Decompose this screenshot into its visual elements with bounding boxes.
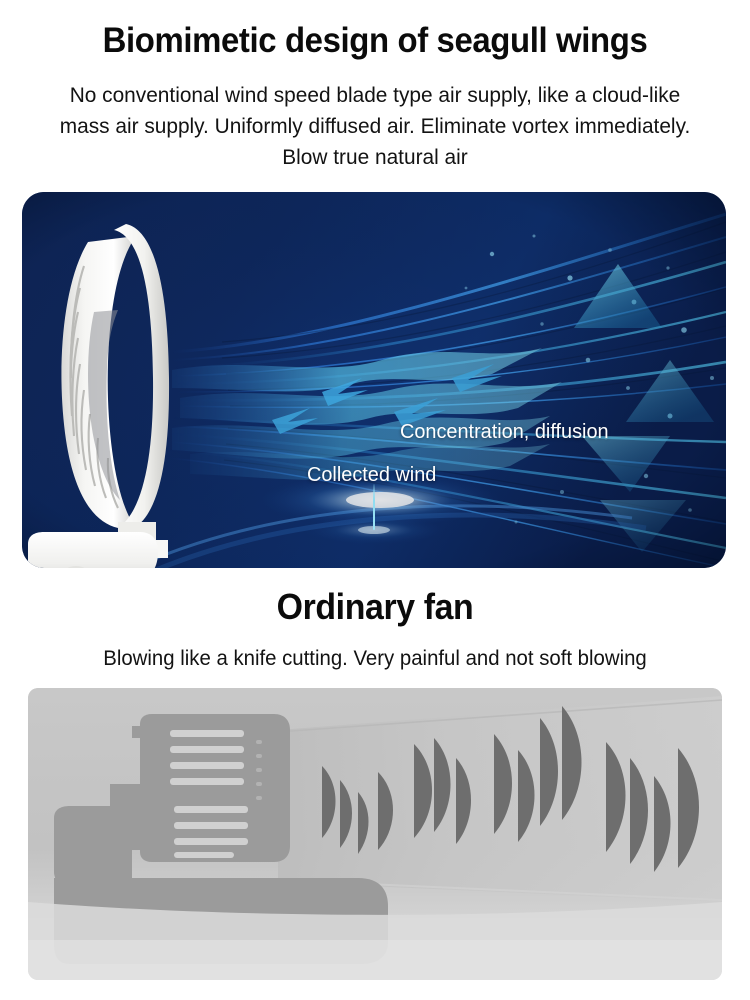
page-title: Biomimetic design of seagull wings — [23, 20, 728, 62]
ordinary-fan-title: Ordinary fan — [23, 585, 728, 629]
hero-image-panel: Concentration, diffusion Collected wind … — [22, 192, 726, 568]
leader-line-concentration — [373, 484, 375, 530]
ordinary-fan-graphic — [28, 688, 722, 980]
ordinary-fan-subtitle: Blowing like a knife cutting. Very painf… — [31, 645, 720, 673]
label-concentration-diffusion: Concentration, diffusion — [400, 420, 609, 444]
product-feature-page: Biomimetic design of seagull wings No co… — [0, 0, 750, 1000]
ordinary-fan-panel — [28, 688, 722, 980]
label-collected-wind: Collected wind — [307, 463, 436, 487]
page-subtitle: No conventional wind speed blade type ai… — [52, 80, 698, 173]
